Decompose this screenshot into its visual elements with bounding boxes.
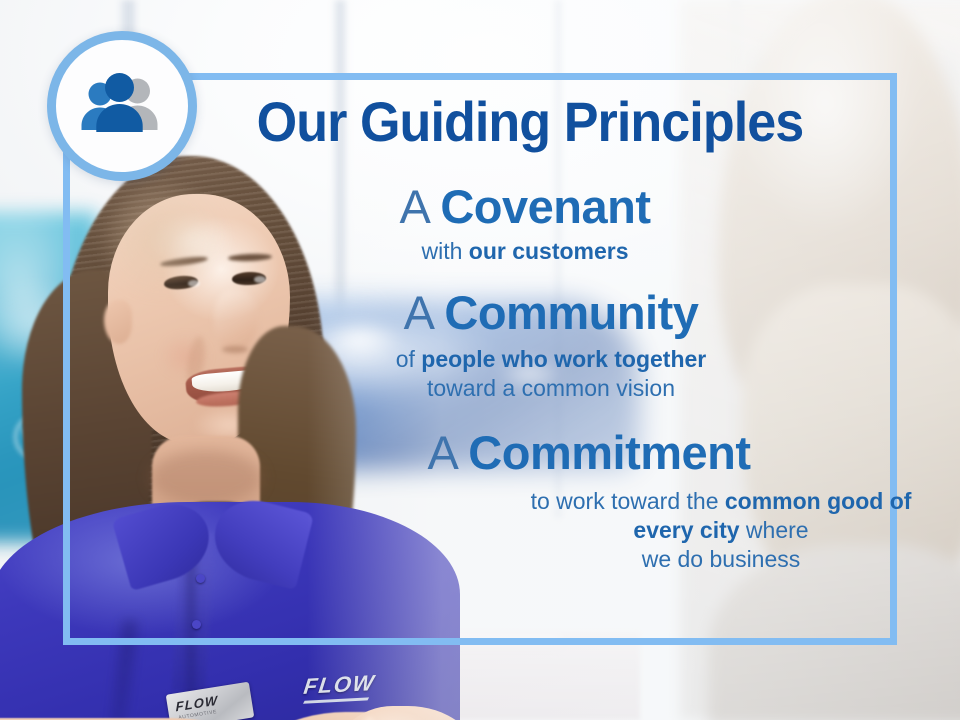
principle-article: A [427,426,455,479]
people-badge [47,31,197,181]
poster-canvas: FLOW AUTOMOTIVE FLOW [0,0,960,720]
subtext-prefix: to work toward the [531,488,725,514]
principle-subtext: with our customers [172,237,878,266]
principle-title: A Community [198,288,904,339]
principle-commitment: A Commitment to work toward the common g… [236,428,942,575]
principle-keyword: Covenant [440,180,650,233]
principle-title: A Covenant [172,182,878,233]
principles-list: A Covenant with our customers A Communit… [180,182,886,581]
subtext-line2: toward a common vision [427,375,675,401]
principle-keyword: Commitment [468,426,750,479]
chest-logo: FLOW [302,670,377,700]
principle-keyword: Community [444,286,698,339]
principle-subtext: to work toward the common good of every … [506,487,936,575]
principle-title: A Commitment [236,428,942,479]
subtext-suffix: where [740,517,809,543]
principle-community: A Community of people who work together … [198,288,904,404]
subtext-line2: we do business [642,546,801,572]
principle-article: A [404,286,432,339]
people-group-icon [74,70,170,142]
page-title: Our Guiding Principles [205,93,856,150]
principle-covenant: A Covenant with our customers [172,182,878,266]
shirt-button [192,620,201,629]
subtext-prefix: of [396,346,422,372]
subtext-emphasis: people who work together [421,346,706,372]
principle-article: A [400,180,428,233]
principle-subtext: of people who work together toward a com… [198,345,904,404]
subtext-emphasis: our customers [469,238,629,264]
subtext-prefix: with [421,238,468,264]
